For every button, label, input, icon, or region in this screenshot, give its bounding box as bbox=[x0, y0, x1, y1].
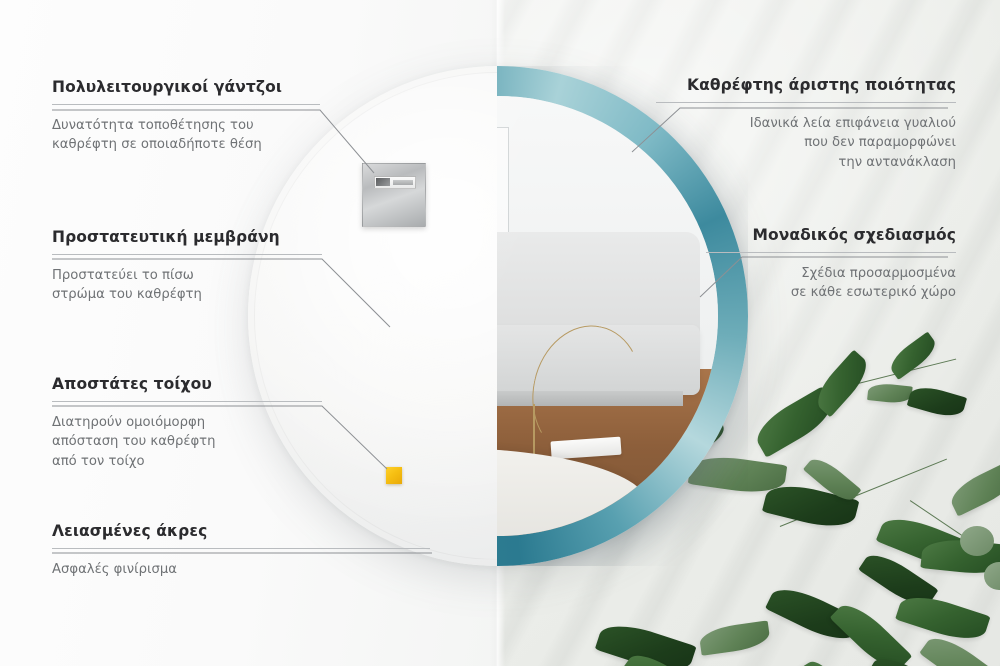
callout-rule bbox=[52, 548, 430, 549]
callout-body: Δυνατότητα τοποθέτησης τουκαθρέφτη σε οπ… bbox=[52, 116, 320, 155]
callout-rule bbox=[52, 254, 322, 255]
callout-rule bbox=[706, 252, 956, 253]
callout-smooth-edges: Λειασμένες άκρες Ασφαλές φινίρισμα bbox=[52, 522, 430, 579]
callout-rule bbox=[52, 401, 322, 402]
yellow-wall-spacer bbox=[386, 467, 402, 484]
hook-slot bbox=[374, 176, 416, 189]
callout-multifunction-hooks: Πολυλειτουργικοί γάντζοι Δυνατότητα τοπο… bbox=[52, 78, 320, 155]
callout-rule bbox=[656, 102, 956, 103]
callout-rule bbox=[52, 104, 320, 105]
callout-title: Λειασμένες άκρες bbox=[52, 522, 430, 541]
callout-protective-film: Προστατευτική μεμβράνη Προστατεύει το πί… bbox=[52, 228, 322, 305]
callout-title: Μοναδικός σχεδιασμός bbox=[706, 226, 956, 245]
callout-title: Προστατευτική μεμβράνη bbox=[52, 228, 322, 247]
callout-body: Διατηρούν ομοιόμορφηαπόσταση του καθρέφτ… bbox=[52, 413, 322, 472]
infographic-canvas: Πολυλειτουργικοί γάντζοι Δυνατότητα τοπο… bbox=[0, 0, 1000, 666]
callout-premium-mirror: Καθρέφτης άριστης ποιότητας Ιδανικά λεία… bbox=[656, 76, 956, 172]
callout-title: Πολυλειτουργικοί γάντζοι bbox=[52, 78, 320, 97]
callout-body: Ασφαλές φινίρισμα bbox=[52, 560, 430, 580]
callout-title: Καθρέφτης άριστης ποιότητας bbox=[656, 76, 956, 95]
callout-title: Αποστάτες τοίχου bbox=[52, 375, 322, 394]
callout-wall-spacers: Αποστάτες τοίχου Διατηρούν ομοιόμορφηαπό… bbox=[52, 375, 322, 471]
metal-mounting-hook bbox=[362, 163, 426, 227]
callout-unique-design: Μοναδικός σχεδιασμός Σχέδια προσαρμοσμέν… bbox=[706, 226, 956, 303]
callout-body: Ιδανικά λεία επιφάνεια γυαλιούπου δεν πα… bbox=[656, 114, 956, 173]
callout-body: Σχέδια προσαρμοσμένασε κάθε εσωτερικό χώ… bbox=[706, 264, 956, 303]
callout-body: Προστατεύει το πίσωστρώμα του καθρέφτη bbox=[52, 266, 322, 305]
